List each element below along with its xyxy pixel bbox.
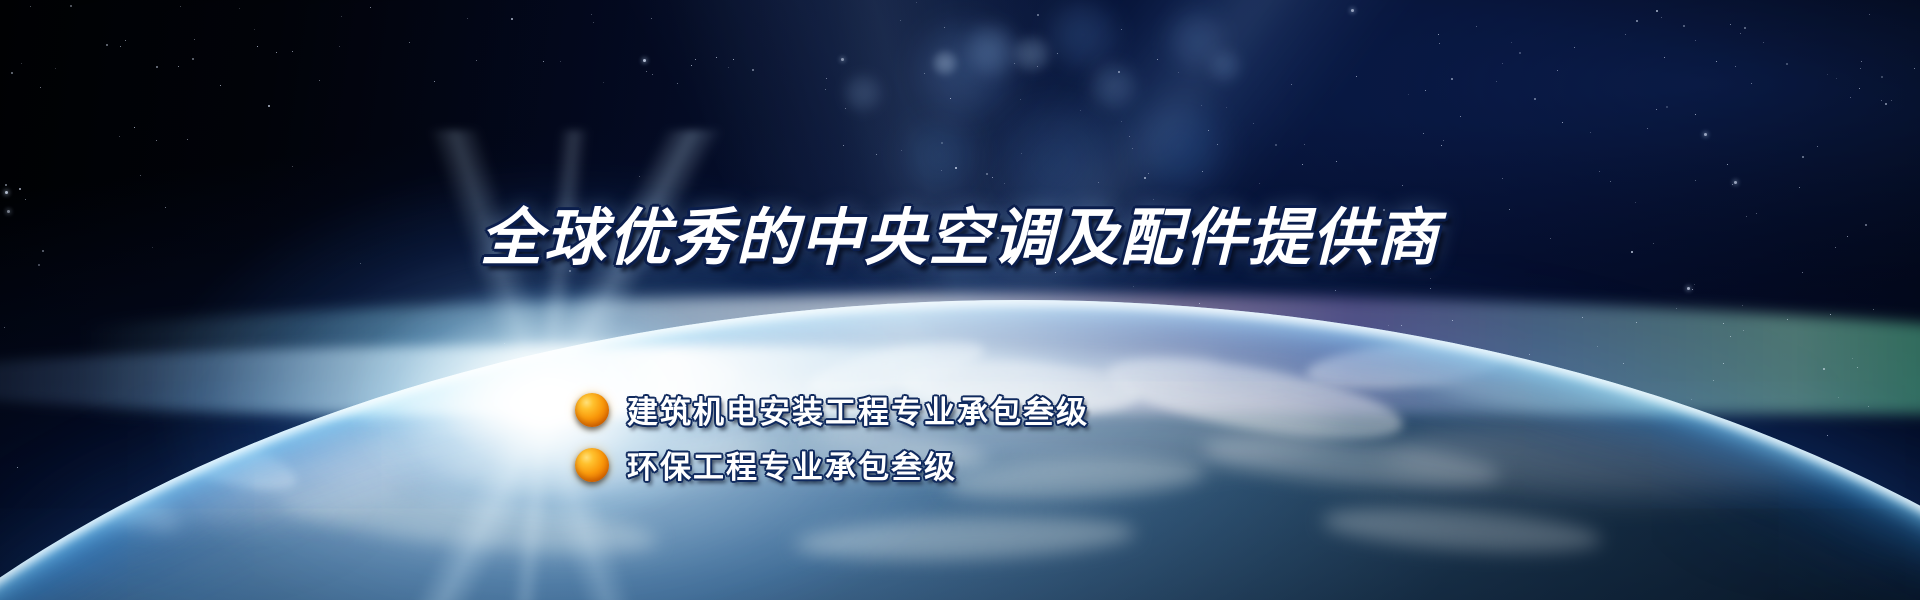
- list-item-label: 建筑机电安装工程专业承包叁级: [627, 387, 1089, 432]
- orange-bullet-icon: [575, 448, 609, 482]
- banner-content: 全球优秀的中央空调及配件提供商 建筑机电安装工程专业承包叁级 环保工程专业承包叁…: [0, 0, 1920, 600]
- list-item-label: 环保工程专业承包叁级: [627, 442, 957, 487]
- list-item: 环保工程专业承包叁级: [575, 437, 1089, 492]
- qualification-list: 建筑机电安装工程专业承包叁级 环保工程专业承包叁级: [575, 382, 1089, 492]
- hero-banner: 全球优秀的中央空调及配件提供商 建筑机电安装工程专业承包叁级 环保工程专业承包叁…: [0, 0, 1920, 600]
- orange-bullet-icon: [575, 393, 609, 427]
- page-title: 全球优秀的中央空调及配件提供商: [0, 205, 1920, 270]
- list-item: 建筑机电安装工程专业承包叁级: [575, 382, 1089, 437]
